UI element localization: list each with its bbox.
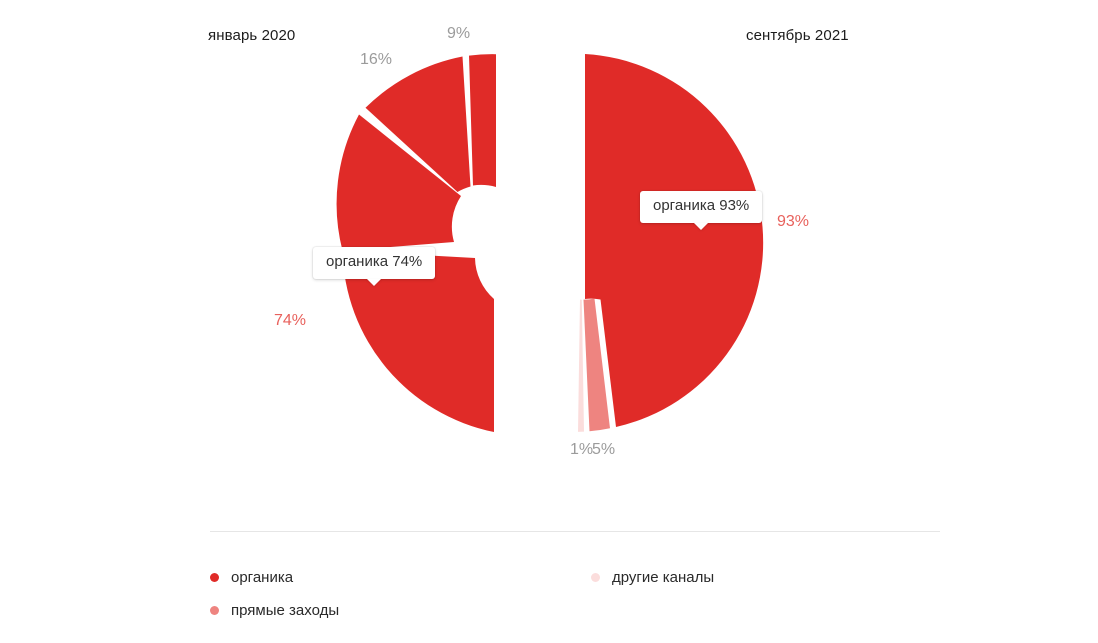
donut-left <box>337 54 496 432</box>
legend-item-organic[interactable]: органика <box>210 569 293 586</box>
pct-label-right-5: 5% <box>592 442 615 458</box>
legend-label-organic: органика <box>231 569 293 586</box>
pct-label-left-9: 9% <box>447 26 470 42</box>
legend-label-other: другие каналы <box>612 569 714 586</box>
tooltip-right-organic: органика 93% <box>640 191 762 223</box>
slice-left-other-9[interactable] <box>469 54 496 187</box>
legend-dot-direct <box>210 606 219 615</box>
slice-right-organic-93[interactable] <box>585 54 763 427</box>
legend-dot-organic <box>210 573 219 582</box>
pct-label-right-1: 1% <box>570 442 593 458</box>
tooltip-left-organic: органика 74% <box>313 247 435 279</box>
pct-label-left-16: 16% <box>360 52 392 68</box>
chart-canvas: январь 2020 сентябрь 2021 9% 16% 74% <box>0 0 1098 643</box>
legend-divider <box>210 531 940 532</box>
donut-charts-svg <box>0 0 1098 643</box>
pct-label-left-74: 74% <box>274 313 306 329</box>
legend-item-direct[interactable]: прямые заходы <box>210 602 339 619</box>
donut-right <box>578 54 763 432</box>
pct-label-right-93: 93% <box>777 214 809 230</box>
legend-dot-other <box>591 573 600 582</box>
legend-item-other[interactable]: другие каналы <box>591 569 714 586</box>
legend-label-direct: прямые заходы <box>231 602 339 619</box>
slice-right-other-1[interactable] <box>578 300 584 432</box>
